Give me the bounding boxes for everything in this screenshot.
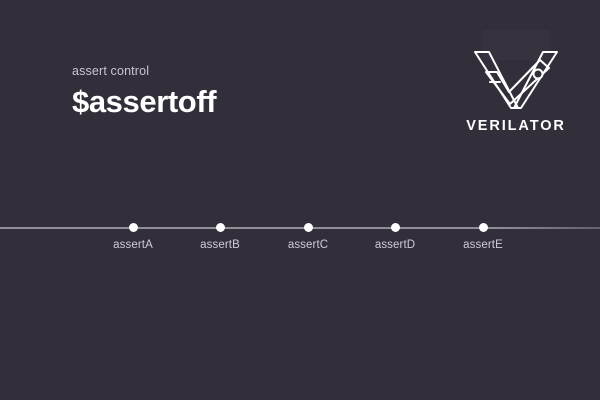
title-block: assert control $assertoff bbox=[72, 63, 402, 119]
verilator-logo: VERILATOR bbox=[457, 28, 575, 138]
timeline-dot-icon[interactable] bbox=[129, 223, 138, 232]
eyebrow-label: assert control bbox=[72, 63, 402, 79]
slide-canvas: assert control $assertoff VERILATOR asse… bbox=[0, 0, 600, 400]
timeline-dot-icon[interactable] bbox=[391, 223, 400, 232]
timeline-dot-icon[interactable] bbox=[304, 223, 313, 232]
horizontal-axis-line-icon bbox=[0, 227, 600, 229]
timeline-point-label: assertE bbox=[423, 238, 543, 252]
timeline-dot-icon[interactable] bbox=[216, 223, 225, 232]
assert-timeline: assertAassertBassertCassertDassertE bbox=[0, 208, 600, 264]
timeline-dot-icon[interactable] bbox=[479, 223, 488, 232]
verilator-v-checkmark-logo-icon bbox=[469, 46, 563, 114]
page-title: $assertoff bbox=[72, 85, 402, 119]
verilator-wordmark: VERILATOR bbox=[457, 118, 575, 135]
